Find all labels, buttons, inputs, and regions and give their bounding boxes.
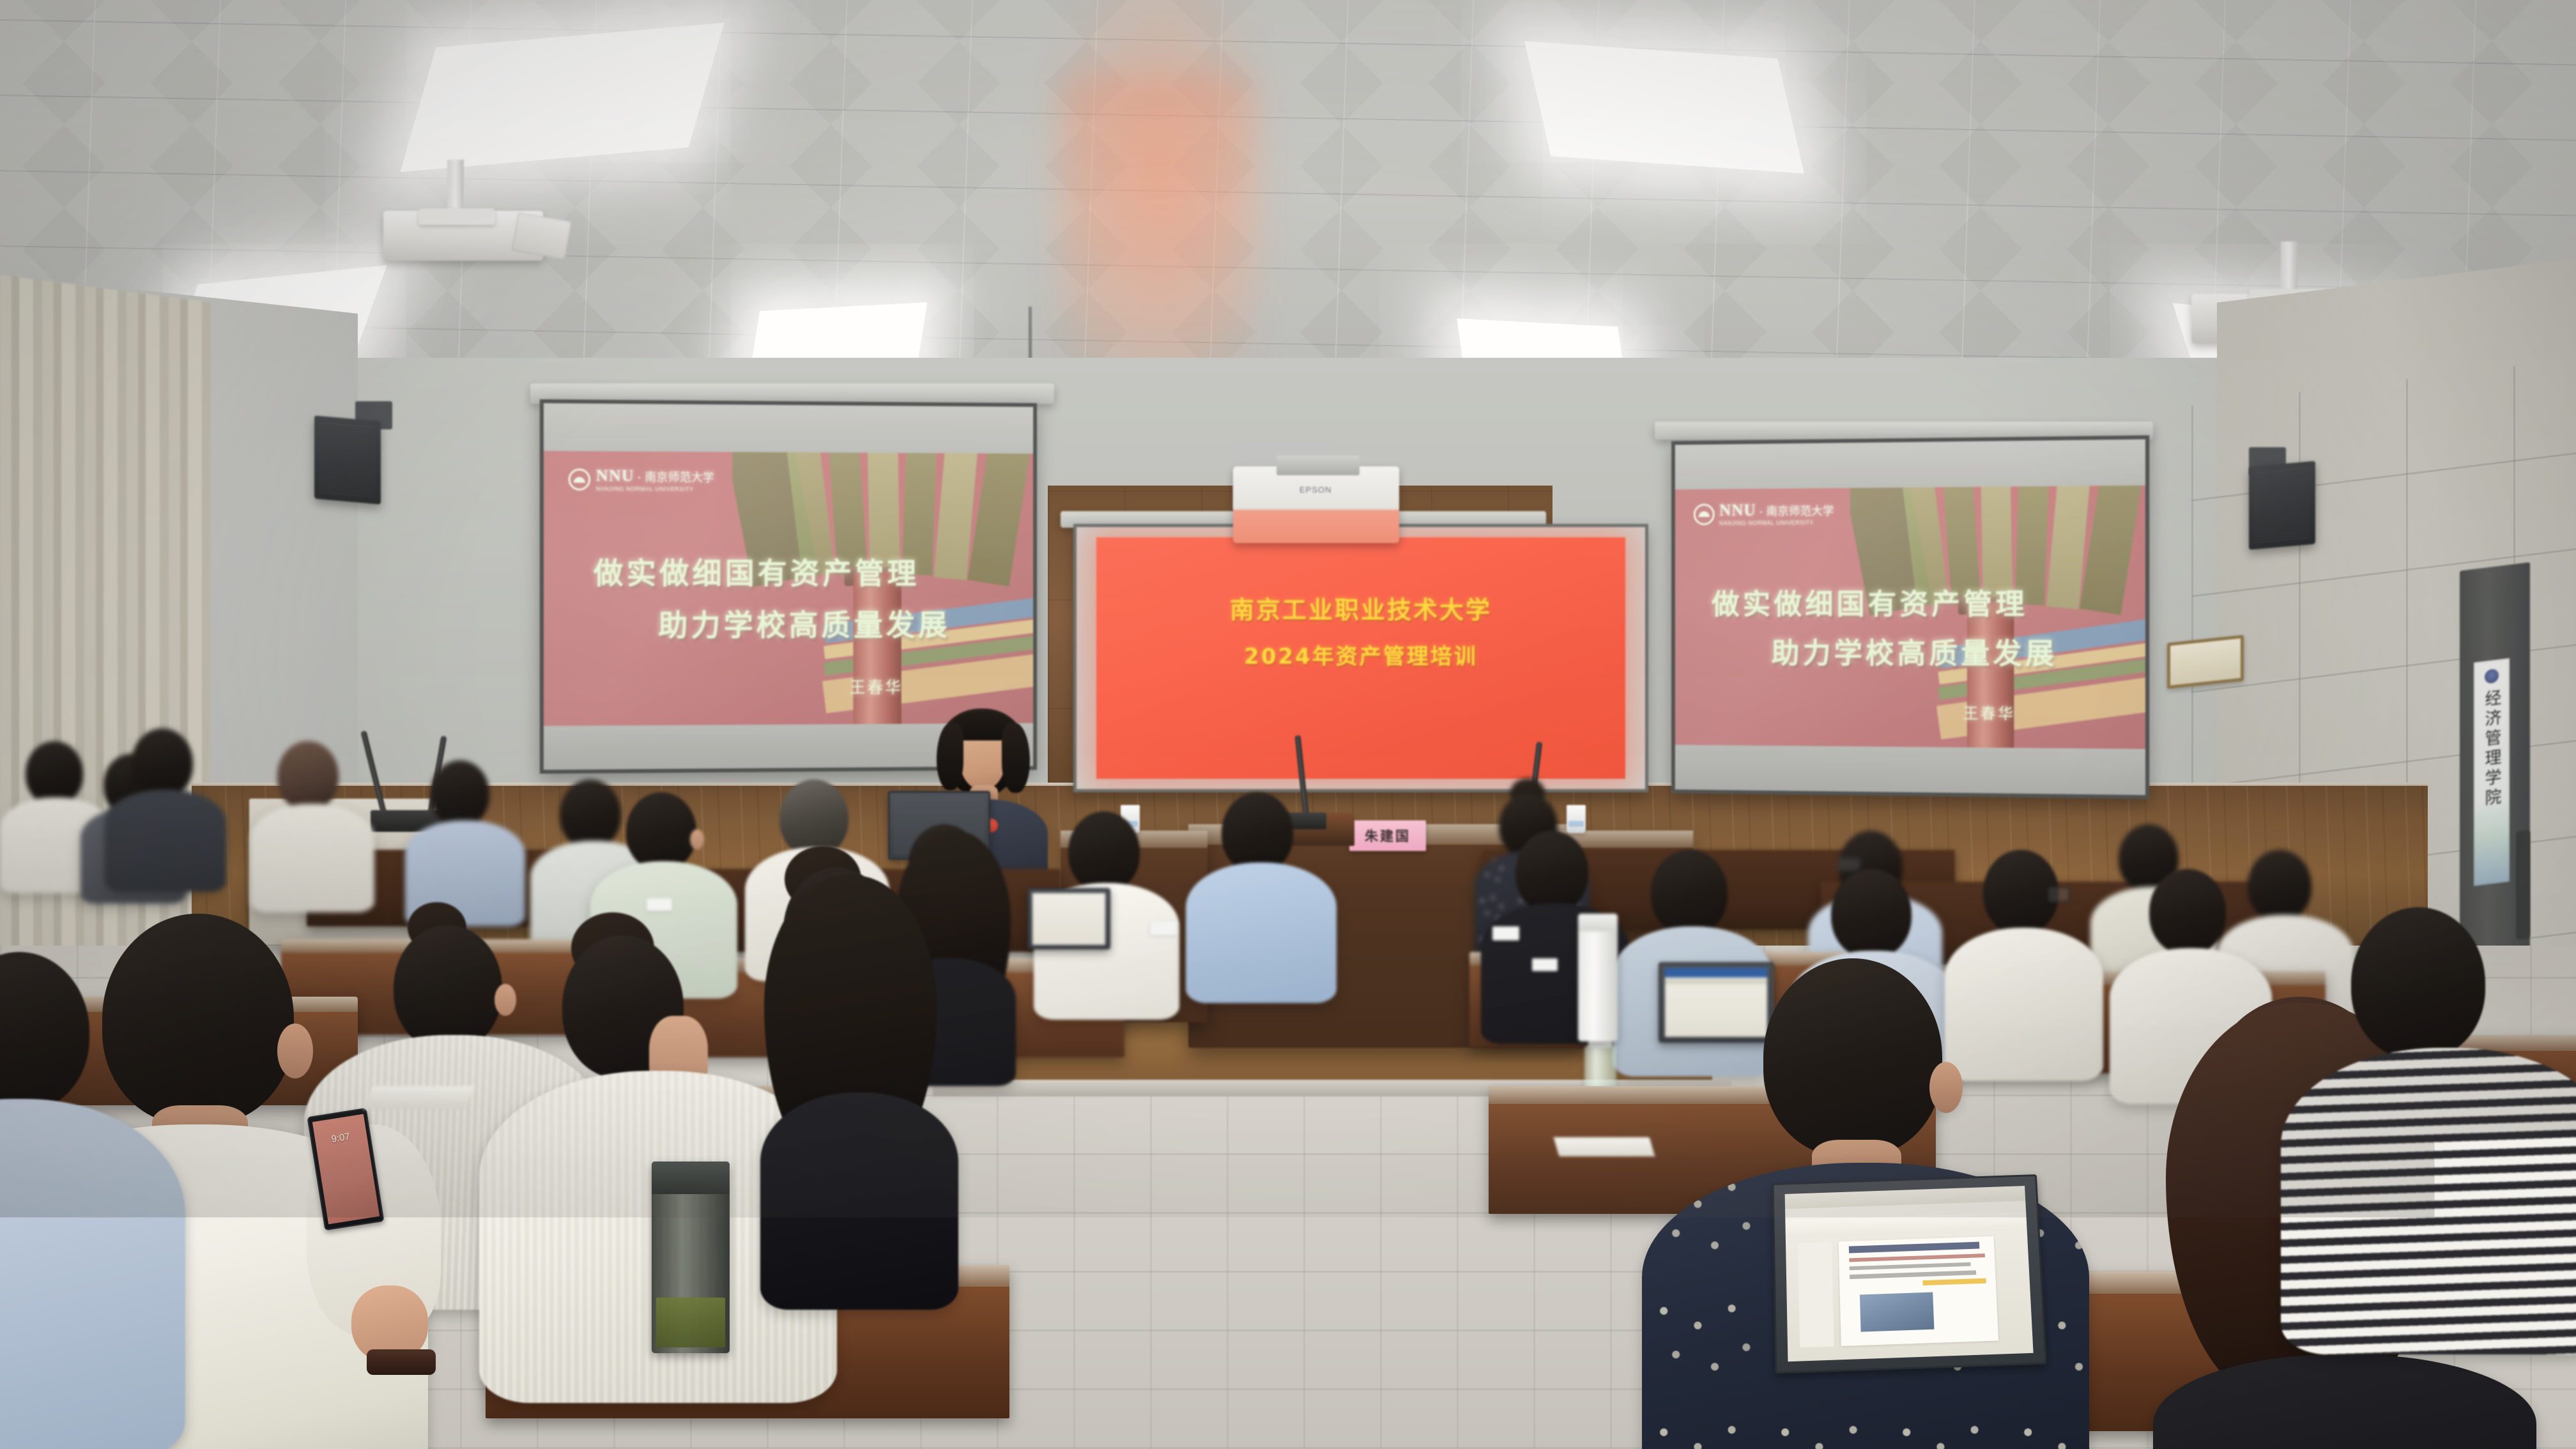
tea-tumbler[interactable]: [652, 1161, 730, 1353]
nnu-logo-cn: 南京师范大学: [645, 472, 714, 484]
center-banner-fill: 南京工业职业技术大学 2024年资产管理培训: [1096, 537, 1625, 778]
projector-mount-plate: [418, 208, 495, 225]
nnu-logo-cn: 南京师范大学: [1767, 505, 1834, 517]
laptop-toolbar: [1665, 979, 1767, 985]
lecture-hall-photo: 经济管理学院: [0, 0, 2576, 1449]
attendee-head: [2248, 850, 2311, 921]
attendee-head: [277, 741, 339, 810]
slide-title-line2: 助力学校高质量发展: [1772, 630, 2058, 672]
nnu-logo-abbr: NNU: [596, 468, 634, 484]
phone-clock: 9:07: [314, 1128, 367, 1147]
attendee-ear: [494, 984, 516, 1016]
attendee-glasses: [1837, 857, 1860, 871]
attendee-head: [1222, 792, 1293, 873]
projector-mount-rod: [447, 160, 464, 215]
center-projection-screen: 南京工业职业技术大学 2024年资产管理培训: [1073, 524, 1648, 792]
nnu-emblem-icon: [569, 469, 591, 491]
desk-nameplate-card: [647, 898, 672, 911]
wall-speaker-right: [2249, 461, 2315, 549]
attendee-head: [431, 760, 489, 827]
nnu-logo-en: NANJING NORMAL UNIVERSITY: [1719, 519, 1834, 526]
slide-title-line1: 做实做细国有资产管理: [1712, 581, 2028, 623]
wall-speaker-left: [314, 415, 381, 504]
attendee-head: [132, 728, 193, 797]
attendee-head: [1983, 850, 2058, 934]
right-projection-screen: NNU · 南京师范大学 NANJING NORMAL UNIVERSITY 做…: [1671, 435, 2149, 799]
attendee-head: [394, 925, 502, 1050]
attendee-head: [779, 779, 848, 856]
nnu-logo-abbr: NNU: [1719, 502, 1756, 518]
paper-sheet: [1554, 1137, 1655, 1156]
wall-notice-frame: [2167, 635, 2244, 689]
projector-lens-icon: [511, 212, 571, 260]
attendee-laptop[interactable]: [1027, 888, 1110, 949]
screen-blank-bottom: [1675, 745, 2145, 795]
attendee-body: [0, 1099, 185, 1449]
desk-nameplate-card: [1150, 921, 1177, 935]
ceiling: [0, 0, 2576, 409]
phone-screen: 9:07: [312, 1114, 379, 1225]
attendee-body: [105, 790, 226, 892]
slide-author: 王春华: [850, 675, 903, 698]
slide-title-line2: 助力学校高质量发展: [658, 602, 950, 645]
desk-nameplate-card: [1532, 958, 1558, 971]
attendee-head: [1068, 811, 1140, 892]
attendee-glasses: [2048, 887, 2070, 902]
laptop-screen: [1032, 893, 1105, 945]
slide-author: 王春华: [1963, 700, 2015, 723]
wall-projector-epson: EPSON: [1233, 466, 1399, 543]
attendee-body: [760, 1092, 958, 1310]
attendee-head: [1515, 831, 1588, 912]
school-emblem-icon: [2485, 668, 2499, 684]
paper-cup: [1567, 805, 1586, 833]
attendee-head: [2351, 907, 2485, 1059]
tumbler-lid: [652, 1161, 730, 1194]
nnu-logo-separator: ·: [1759, 507, 1763, 517]
nnu-emblem-icon: [1693, 503, 1714, 525]
attendee-wristwatch: [367, 1349, 436, 1375]
nnu-logo-en: NANJING NORMAL UNIVERSITY: [596, 486, 714, 493]
department-banner-text: 经济管理学院: [2483, 689, 2500, 809]
attendee-head: [626, 792, 696, 870]
slide-pillar: [1967, 601, 2014, 747]
attendee-laptop-foreground[interactable]: [1772, 1174, 2047, 1374]
wall-projector-mount: [1276, 456, 1360, 475]
tumbler-lid: [1578, 914, 1618, 931]
attendee-head: [1763, 958, 1942, 1156]
slide-pillar: [854, 572, 901, 724]
wall-projector-brand-label: EPSON: [1299, 485, 1332, 494]
screen-blank-top: [1675, 440, 2145, 490]
attendee-ear: [690, 829, 704, 850]
laptop-screen: [1784, 1186, 2034, 1362]
paper-sheet: [364, 1086, 475, 1109]
laptop-titlebar: [1665, 968, 1767, 977]
nnu-logo-separator: ·: [638, 473, 641, 484]
attendee-head: [1651, 850, 1728, 935]
nnu-logo: NNU · 南京师范大学 NANJING NORMAL UNIVERSITY: [1693, 501, 1834, 526]
center-banner-line2: 2024年资产管理培训: [1096, 639, 1625, 670]
left-slide: NNU · 南京师范大学 NANJING NORMAL UNIVERSITY 做…: [544, 451, 1033, 726]
attendee-head: [560, 779, 621, 848]
slide-title-line1: 做实做细国有资产管理: [594, 550, 919, 593]
attendee-ear: [277, 1023, 313, 1078]
presenter-hair-side-left: [937, 723, 963, 790]
attendee-ear: [1929, 1062, 1963, 1113]
attendee-head: [102, 914, 294, 1124]
attendee-body: [250, 804, 374, 912]
attendee-body: [1186, 862, 1337, 1003]
desk-nameplate-card: [1492, 926, 1519, 940]
document-image: [1860, 1292, 1935, 1331]
document-sidebar: [1798, 1242, 1834, 1348]
laptop-screen: [1665, 968, 1767, 1037]
attendee-head: [1831, 869, 1912, 958]
nameplate-zhu-jianguo: 朱建国: [1349, 820, 1426, 851]
ceiling-light-panel: [1524, 41, 1804, 173]
door-handle[interactable]: [2516, 830, 2530, 940]
screen-blank-top: [544, 403, 1033, 454]
nnu-logo: NNU · 南京师范大学 NANJING NORMAL UNIVERSITY: [569, 468, 714, 493]
right-slide: NNU · 南京师范大学 NANJING NORMAL UNIVERSITY 做…: [1675, 486, 2145, 749]
attendee-body: [1945, 928, 2103, 1081]
nameplate-text: 朱建国: [1365, 826, 1411, 845]
attendee-head: [2149, 869, 2226, 954]
department-banner: 经济管理学院: [2474, 658, 2510, 886]
tumbler-tea-leaves: [656, 1298, 724, 1347]
attendee-laptop[interactable]: [1659, 962, 1774, 1043]
attendee-body: [2281, 1048, 2576, 1354]
center-banner-line1: 南京工业职业技术大学: [1096, 590, 1625, 625]
thermos-tumbler[interactable]: [1578, 914, 1618, 1041]
attendee-head: [26, 741, 83, 805]
